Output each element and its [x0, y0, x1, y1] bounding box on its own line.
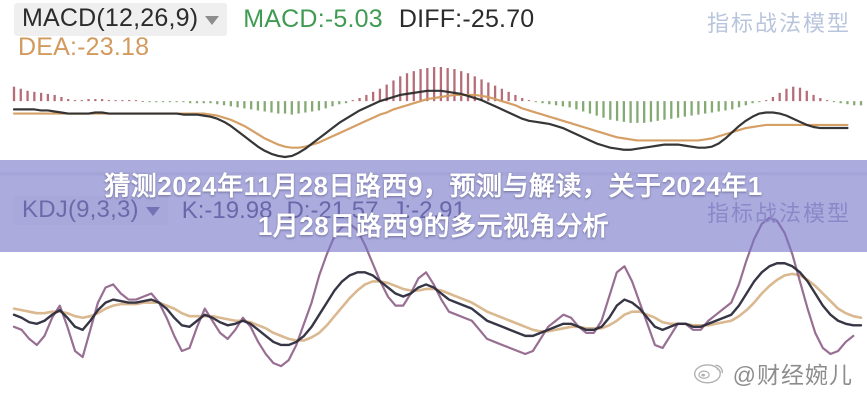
weibo-watermark: @财经婉儿	[693, 356, 853, 390]
diff-value: DIFF:-25.70	[399, 6, 535, 34]
macd-header-row: MACD(12,26,9) MACD:-5.03 DIFF:-25.70	[14, 3, 534, 36]
weibo-handle: @财经婉儿	[733, 356, 853, 390]
chevron-down-icon[interactable]	[205, 16, 219, 25]
macd-indicator-label: MACD(12,26,9)	[22, 5, 198, 33]
title-line-2: 1月28日路西9的多元视角分析	[258, 206, 609, 246]
weibo-logo-icon	[693, 360, 727, 386]
watermark-model-top: 指标战法模型	[707, 6, 851, 38]
chart-screenshot: MACD(12,26,9) MACD:-5.03 DIFF:-25.70 DEA…	[0, 0, 867, 400]
title-line-1: 猜测2024年11月28日路西9，预测与解读，关于2024年1	[104, 166, 763, 206]
macd-indicator-selector[interactable]: MACD(12,26,9)	[14, 3, 227, 36]
title-overlay-band: 猜测2024年11月28日路西9，预测与解读，关于2024年1 1月28日路西9…	[0, 160, 867, 252]
dea-row: DEA:-23.18	[18, 34, 149, 62]
macd-value: MACD:-5.03	[243, 6, 383, 34]
dea-value: DEA:-23.18	[18, 33, 149, 61]
